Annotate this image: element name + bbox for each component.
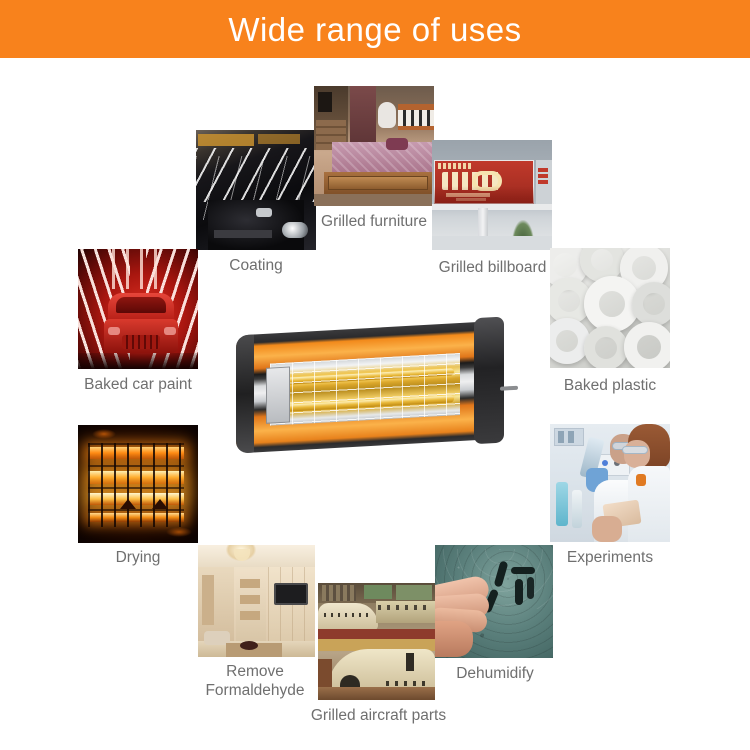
lamp-bracket — [266, 366, 290, 423]
lamp-endcap-right — [474, 317, 504, 445]
tile-experiments[interactable] — [550, 424, 670, 542]
lamp-grid-vertical — [270, 353, 460, 426]
tile-dehumidify[interactable] — [435, 545, 553, 658]
lamp-housing — [236, 321, 504, 454]
photo-experiments — [550, 424, 670, 542]
tile-grilled-billboard[interactable] — [432, 140, 552, 250]
photo-coating — [196, 130, 316, 250]
uses-infographic: Wide range of uses Coating — [0, 0, 750, 750]
photo-grilled-aircraft-parts — [318, 583, 435, 700]
header-banner: Wide range of uses — [0, 0, 750, 58]
caption-remove-formaldehyde: Remove Formaldehyde — [185, 662, 325, 700]
tile-baked-plastic[interactable] — [550, 248, 670, 368]
caption-grilled-aircraft-parts: Grilled aircraft parts — [296, 706, 461, 725]
tile-drying[interactable] — [78, 425, 198, 543]
tile-baked-car-paint[interactable] — [78, 249, 198, 369]
caption-baked-car-paint: Baked car paint — [68, 375, 208, 394]
photo-drying — [78, 425, 198, 543]
caption-grilled-billboard: Grilled billboard — [420, 258, 565, 277]
lamp-endcap-left — [236, 334, 254, 453]
photo-dehumidify — [435, 545, 553, 658]
tile-coating[interactable] — [196, 130, 316, 250]
photo-grilled-billboard — [432, 140, 552, 250]
lamp-mount-stem — [500, 386, 518, 391]
caption-grilled-furniture: Grilled furniture — [304, 212, 444, 231]
photo-baked-car-paint — [78, 249, 198, 369]
caption-coating: Coating — [196, 256, 316, 275]
photo-baked-plastic — [550, 248, 670, 368]
photo-grilled-furniture — [314, 86, 434, 206]
tile-remove-formaldehyde[interactable] — [198, 545, 315, 657]
caption-baked-plastic: Baked plastic — [545, 376, 675, 395]
caption-drying: Drying — [78, 548, 198, 567]
tile-grilled-furniture[interactable] — [314, 86, 434, 206]
photo-remove-formaldehyde — [198, 545, 315, 657]
caption-experiments: Experiments — [545, 548, 675, 567]
product-infrared-lamp — [228, 318, 518, 458]
caption-dehumidify: Dehumidify — [435, 664, 555, 683]
page-title: Wide range of uses — [228, 13, 521, 46]
tile-grilled-aircraft-parts[interactable] — [318, 583, 435, 700]
